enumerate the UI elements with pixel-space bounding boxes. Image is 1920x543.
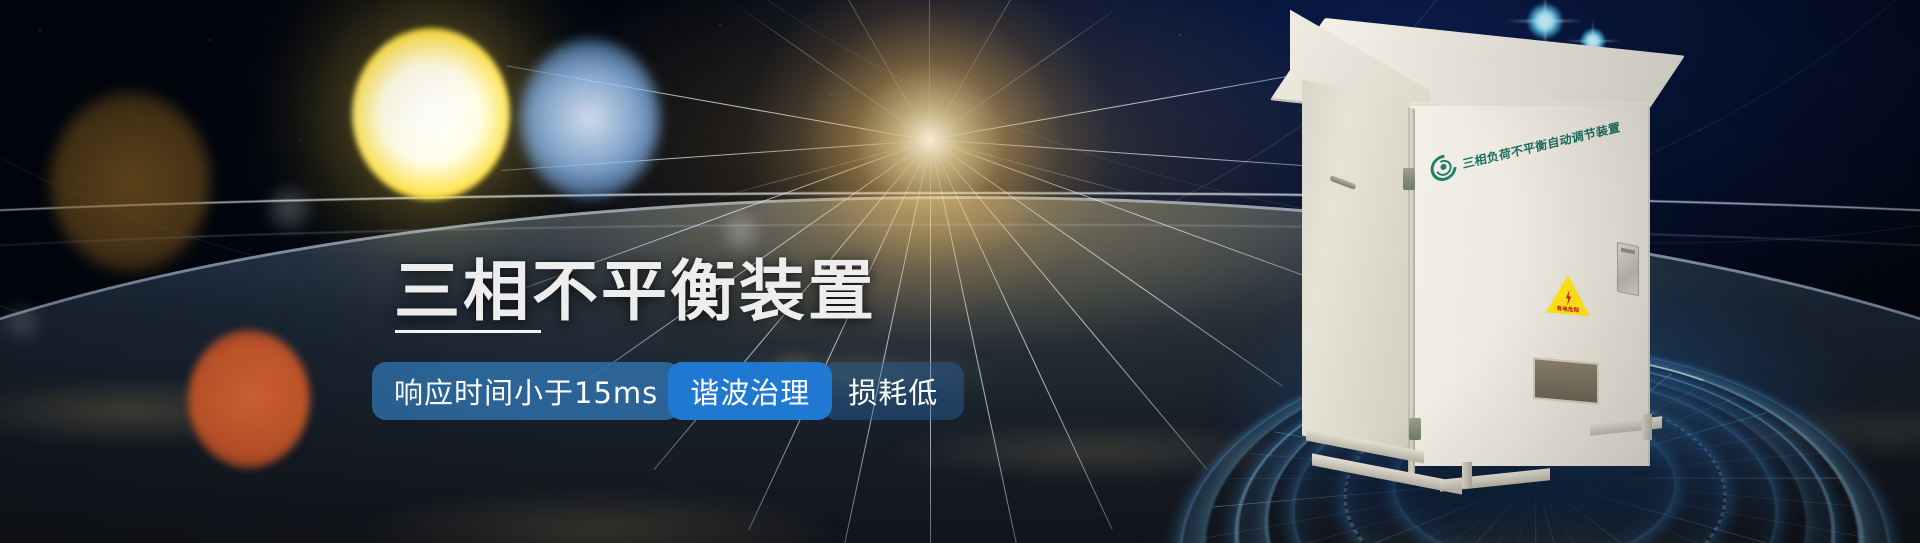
orange-bokeh [188,330,310,468]
page-title: 三相不平衡装置 [394,238,877,334]
white-bokeh [352,28,510,200]
product-cabinet: 三相负荷不平衡自动调节装置 有电危险 [1290,22,1710,522]
dust-bokeh-5 [0,300,44,344]
title-divider [395,330,541,333]
dust-bokeh-1 [262,182,316,236]
company-logo-icon [1429,152,1458,184]
feature-pill-harmonic[interactable]: 谐波治理 [668,362,832,420]
feature-pill-row: 响应时间小于15ms 谐波治理 损耗低 [372,362,964,420]
base-rail-front [1440,468,1550,492]
door-hinge-bottom [1409,418,1421,440]
blue-bokeh [520,40,660,198]
hero-banner: 三相负荷不平衡自动调节装置 有电危险 三相不平衡装置 响应时间小于15ms 谐波… [0,0,1920,543]
base-foot-front [1462,462,1472,488]
base-foot-right [1642,414,1652,440]
side-panel [1302,80,1410,457]
lock-plate [1617,242,1639,296]
feature-pill-response-time[interactable]: 响应时间小于15ms [372,362,680,420]
side-handle [1330,175,1357,190]
amber-bokeh [50,92,210,272]
warning-sticker: 有电危险 [1545,272,1591,318]
door-hinge-top [1403,168,1415,190]
lower-vent [1533,357,1599,405]
feature-pill-low-loss[interactable]: 损耗低 [822,362,964,420]
